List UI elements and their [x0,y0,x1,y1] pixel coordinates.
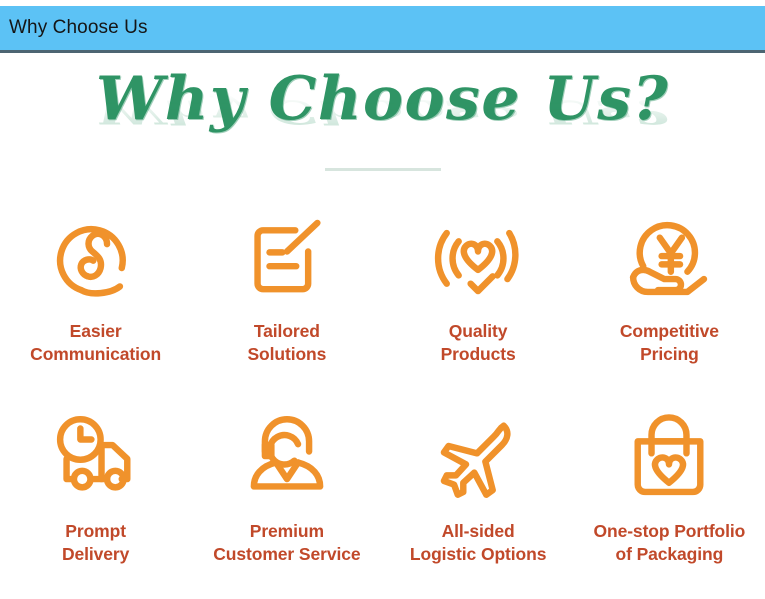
feature-card-tailored-solutions[interactable]: Tailored Solutions [191,199,382,399]
feature-label: Prompt Delivery [62,520,129,566]
feature-label: Competitive Pricing [620,320,719,366]
feature-card-competitive-pricing[interactable]: Competitive Pricing [574,199,765,399]
feature-label: Easier Communication [30,320,161,366]
document-pencil-icon [235,205,339,309]
feature-card-easier-communication[interactable]: Easier Communication [0,199,191,399]
feature-label: One-stop Portfolio of Packaging [593,520,745,566]
page-content: Why Choose Us? Why Choose Us? Easier Com… [0,56,765,599]
airplane-icon [426,405,530,509]
delivery-truck-clock-icon [44,405,148,509]
hero-divider [325,168,441,171]
feature-label: Tailored Solutions [247,320,326,366]
feature-card-one-stop-portfolio-packaging[interactable]: One-stop Portfolio of Packaging [574,399,765,599]
page-title: Why Choose Us [0,17,148,39]
feature-card-prompt-delivery[interactable]: Prompt Delivery [0,399,191,599]
hand-yen-coin-icon [617,205,721,309]
feature-label: Quality Products [441,320,516,366]
headset-agent-icon [235,405,339,509]
ear-listening-icon [44,205,148,309]
feature-card-premium-customer-service[interactable]: Premium Customer Service [191,399,382,599]
feature-card-all-sided-logistic-options[interactable]: All-sided Logistic Options [383,399,574,599]
hero-banner: Why Choose Us? Why Choose Us? [0,62,765,174]
feature-label: Premium Customer Service [213,520,360,566]
heart-waves-check-icon [426,205,530,309]
feature-card-quality-products[interactable]: Quality Products [383,199,574,399]
shopping-bag-heart-icon [617,405,721,509]
window-title-bar: Why Choose Us [0,6,765,53]
hero-headline: Why Choose Us? [0,62,765,136]
feature-grid: Easier Communication Tailored Solutions [0,199,765,599]
feature-label: All-sided Logistic Options [410,520,546,566]
